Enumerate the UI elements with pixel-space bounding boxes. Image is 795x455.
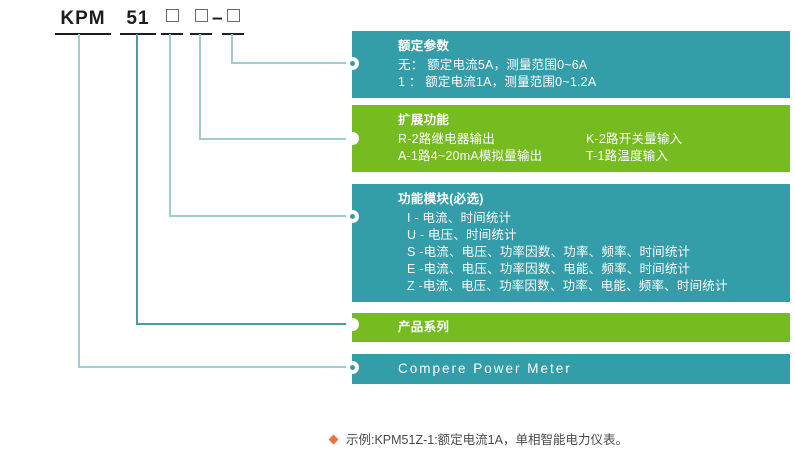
box-line: 无： 额定电流5A，测量范围0~6A (398, 57, 790, 74)
connector-hline-modules (169, 215, 359, 217)
box-line: 1 ： 额定电流1A，测量范围0~1.2A (398, 74, 790, 91)
box-title: 扩展功能 (398, 112, 790, 129)
box-line-right: K-2路开关量输入 (586, 131, 682, 148)
connector-dot-rated (346, 57, 359, 70)
example-note-text: 示例:KPM51Z-1:额定电流1A，单相智能电力仪表。 (346, 433, 628, 447)
box-row: R-2路继电器输出 K-2路开关量输入 (398, 131, 790, 148)
code-segment-box-1 (161, 6, 183, 35)
info-box-function-modules: 功能模块(必选) I - 电流、时间统计 U - 电压、时间统计 S -电流、电… (352, 184, 790, 302)
connector-dot-series (346, 318, 359, 331)
box-line-right: T-1路温度输入 (586, 148, 668, 165)
code-segment-kpm: KPM (55, 6, 111, 35)
empty-square-icon (227, 9, 240, 22)
connector-hline-rated (231, 62, 359, 64)
connector-vline-series (136, 34, 138, 325)
box-row: A-1路4~20mA模拟量输出 T-1路温度输入 (398, 148, 790, 165)
empty-square-icon (195, 9, 208, 22)
box-line: E -电流、电压、功率因数、电能、频率、时间统计 (398, 261, 790, 278)
box-line-left: A-1路4~20mA模拟量输出 (398, 148, 542, 165)
code-segment-51: 51 (120, 6, 156, 35)
connector-dot-product (346, 361, 359, 374)
connector-hline-extended (199, 138, 359, 140)
box-title: Compere Power Meter (398, 359, 790, 378)
empty-square-icon (166, 9, 179, 22)
box-title: 产品系列 (398, 319, 790, 336)
connector-hline-product (78, 366, 359, 368)
connector-vline-product (78, 34, 80, 368)
example-note: 示例:KPM51Z-1:额定电流1A，单相智能电力仪表。 (330, 431, 628, 449)
connector-vline-rated (231, 34, 233, 64)
code-dash: – (212, 6, 223, 32)
connector-dot-extended (346, 132, 359, 145)
info-box-extended-functions: 扩展功能 R-2路继电器输出 K-2路开关量输入 A-1路4~20mA模拟量输出… (352, 105, 790, 172)
info-box-product-series: 产品系列 (352, 313, 790, 342)
connector-dot-modules (346, 210, 359, 223)
box-line: U - 电压、时间统计 (398, 227, 790, 244)
box-title: 额定参数 (398, 38, 790, 55)
info-box-rated-parameters: 额定参数 无： 额定电流5A，测量范围0~6A 1 ： 额定电流1A，测量范围0… (352, 31, 790, 98)
box-line: S -电流、电压、功率因数、功率、频率、时间统计 (398, 244, 790, 261)
diagram-canvas: KPM 51 – 额定参数 无： 额定电流5A，测量范围0~6A 1 ： 额定电… (0, 0, 795, 455)
code-segment-box-3 (222, 6, 244, 35)
code-segment-box-2 (190, 6, 212, 35)
info-box-product-name: Compere Power Meter (352, 354, 790, 384)
diamond-bullet-icon (329, 435, 339, 445)
connector-vline-extended (199, 34, 201, 140)
box-line: I - 电流、时间统计 (398, 210, 790, 227)
box-line: Z -电流、电压、功率因数、功率、电能、频率、时间统计 (398, 278, 790, 295)
connector-vline-modules (169, 34, 171, 217)
box-line-left: R-2路继电器输出 (398, 131, 495, 148)
box-title: 功能模块(必选) (398, 191, 790, 208)
connector-hline-series (136, 323, 359, 325)
